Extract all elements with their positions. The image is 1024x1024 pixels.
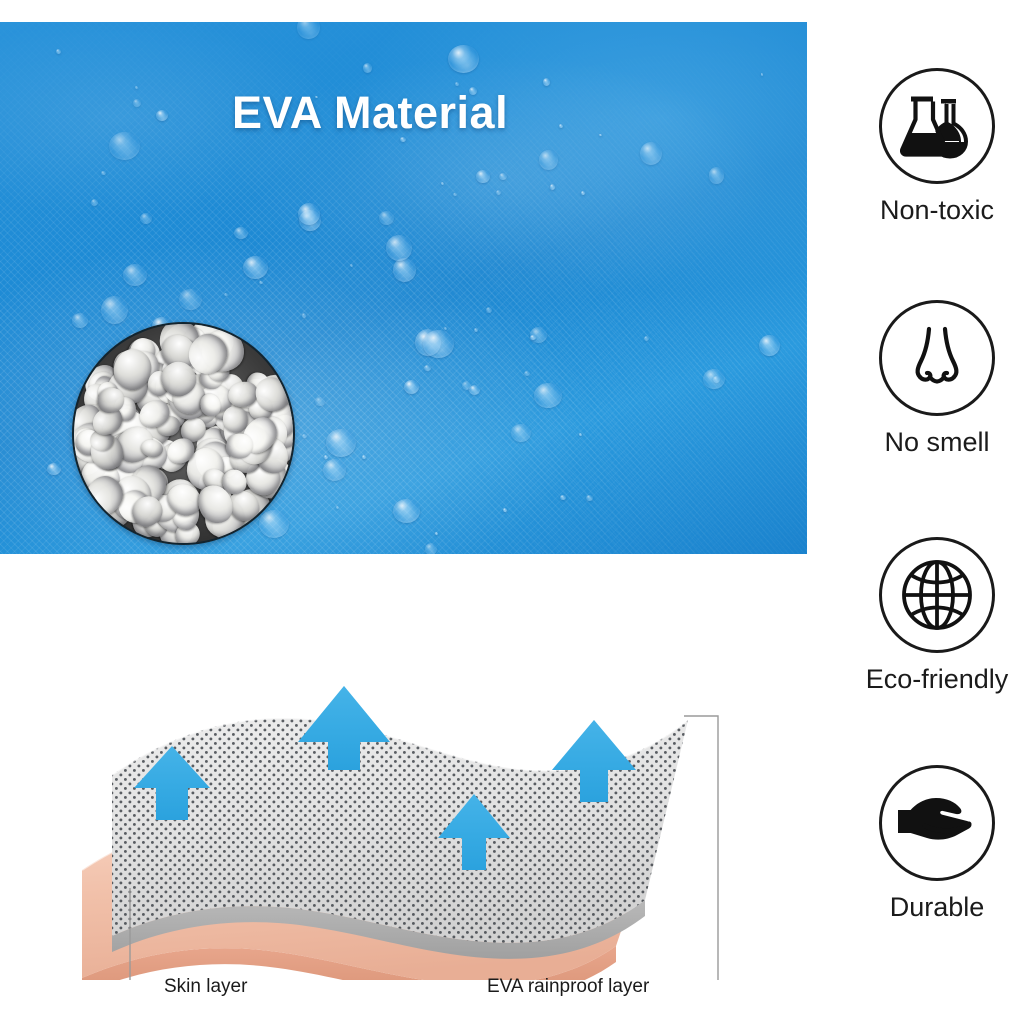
nose-icon [902, 323, 972, 393]
feature-circle [879, 300, 995, 416]
material-layers-diagram [60, 570, 760, 980]
feature-icon-column: Non-toxic [850, 0, 1024, 1024]
feature-no-smell[interactable]: No smell [850, 300, 1024, 456]
label-eva-rainproof-layer: EVA rainproof layer [487, 976, 649, 998]
feature-label: Non-toxic [850, 197, 1024, 224]
globe-icon [897, 555, 977, 635]
label-skin-layer: Skin layer [164, 976, 247, 998]
feature-eco-friendly[interactable]: Eco-friendly [850, 537, 1024, 693]
feature-circle [879, 537, 995, 653]
page-title: EVA Material [232, 87, 508, 139]
plastic-pellets-icon [74, 324, 293, 543]
hand-icon [895, 788, 979, 858]
flask-icon [900, 89, 974, 163]
feature-label: Durable [850, 894, 1024, 921]
infographic-page: EVA Material [0, 0, 1024, 1024]
eva-pellets-inset [72, 322, 295, 545]
feature-circle [879, 765, 995, 881]
feature-circle [879, 68, 995, 184]
feature-non-toxic[interactable]: Non-toxic [850, 68, 1024, 224]
eva-fabric-photo: EVA Material [0, 22, 807, 554]
feature-label: Eco-friendly [850, 666, 1024, 693]
feature-label: No smell [850, 429, 1024, 456]
feature-durable[interactable]: Durable [850, 765, 1024, 921]
